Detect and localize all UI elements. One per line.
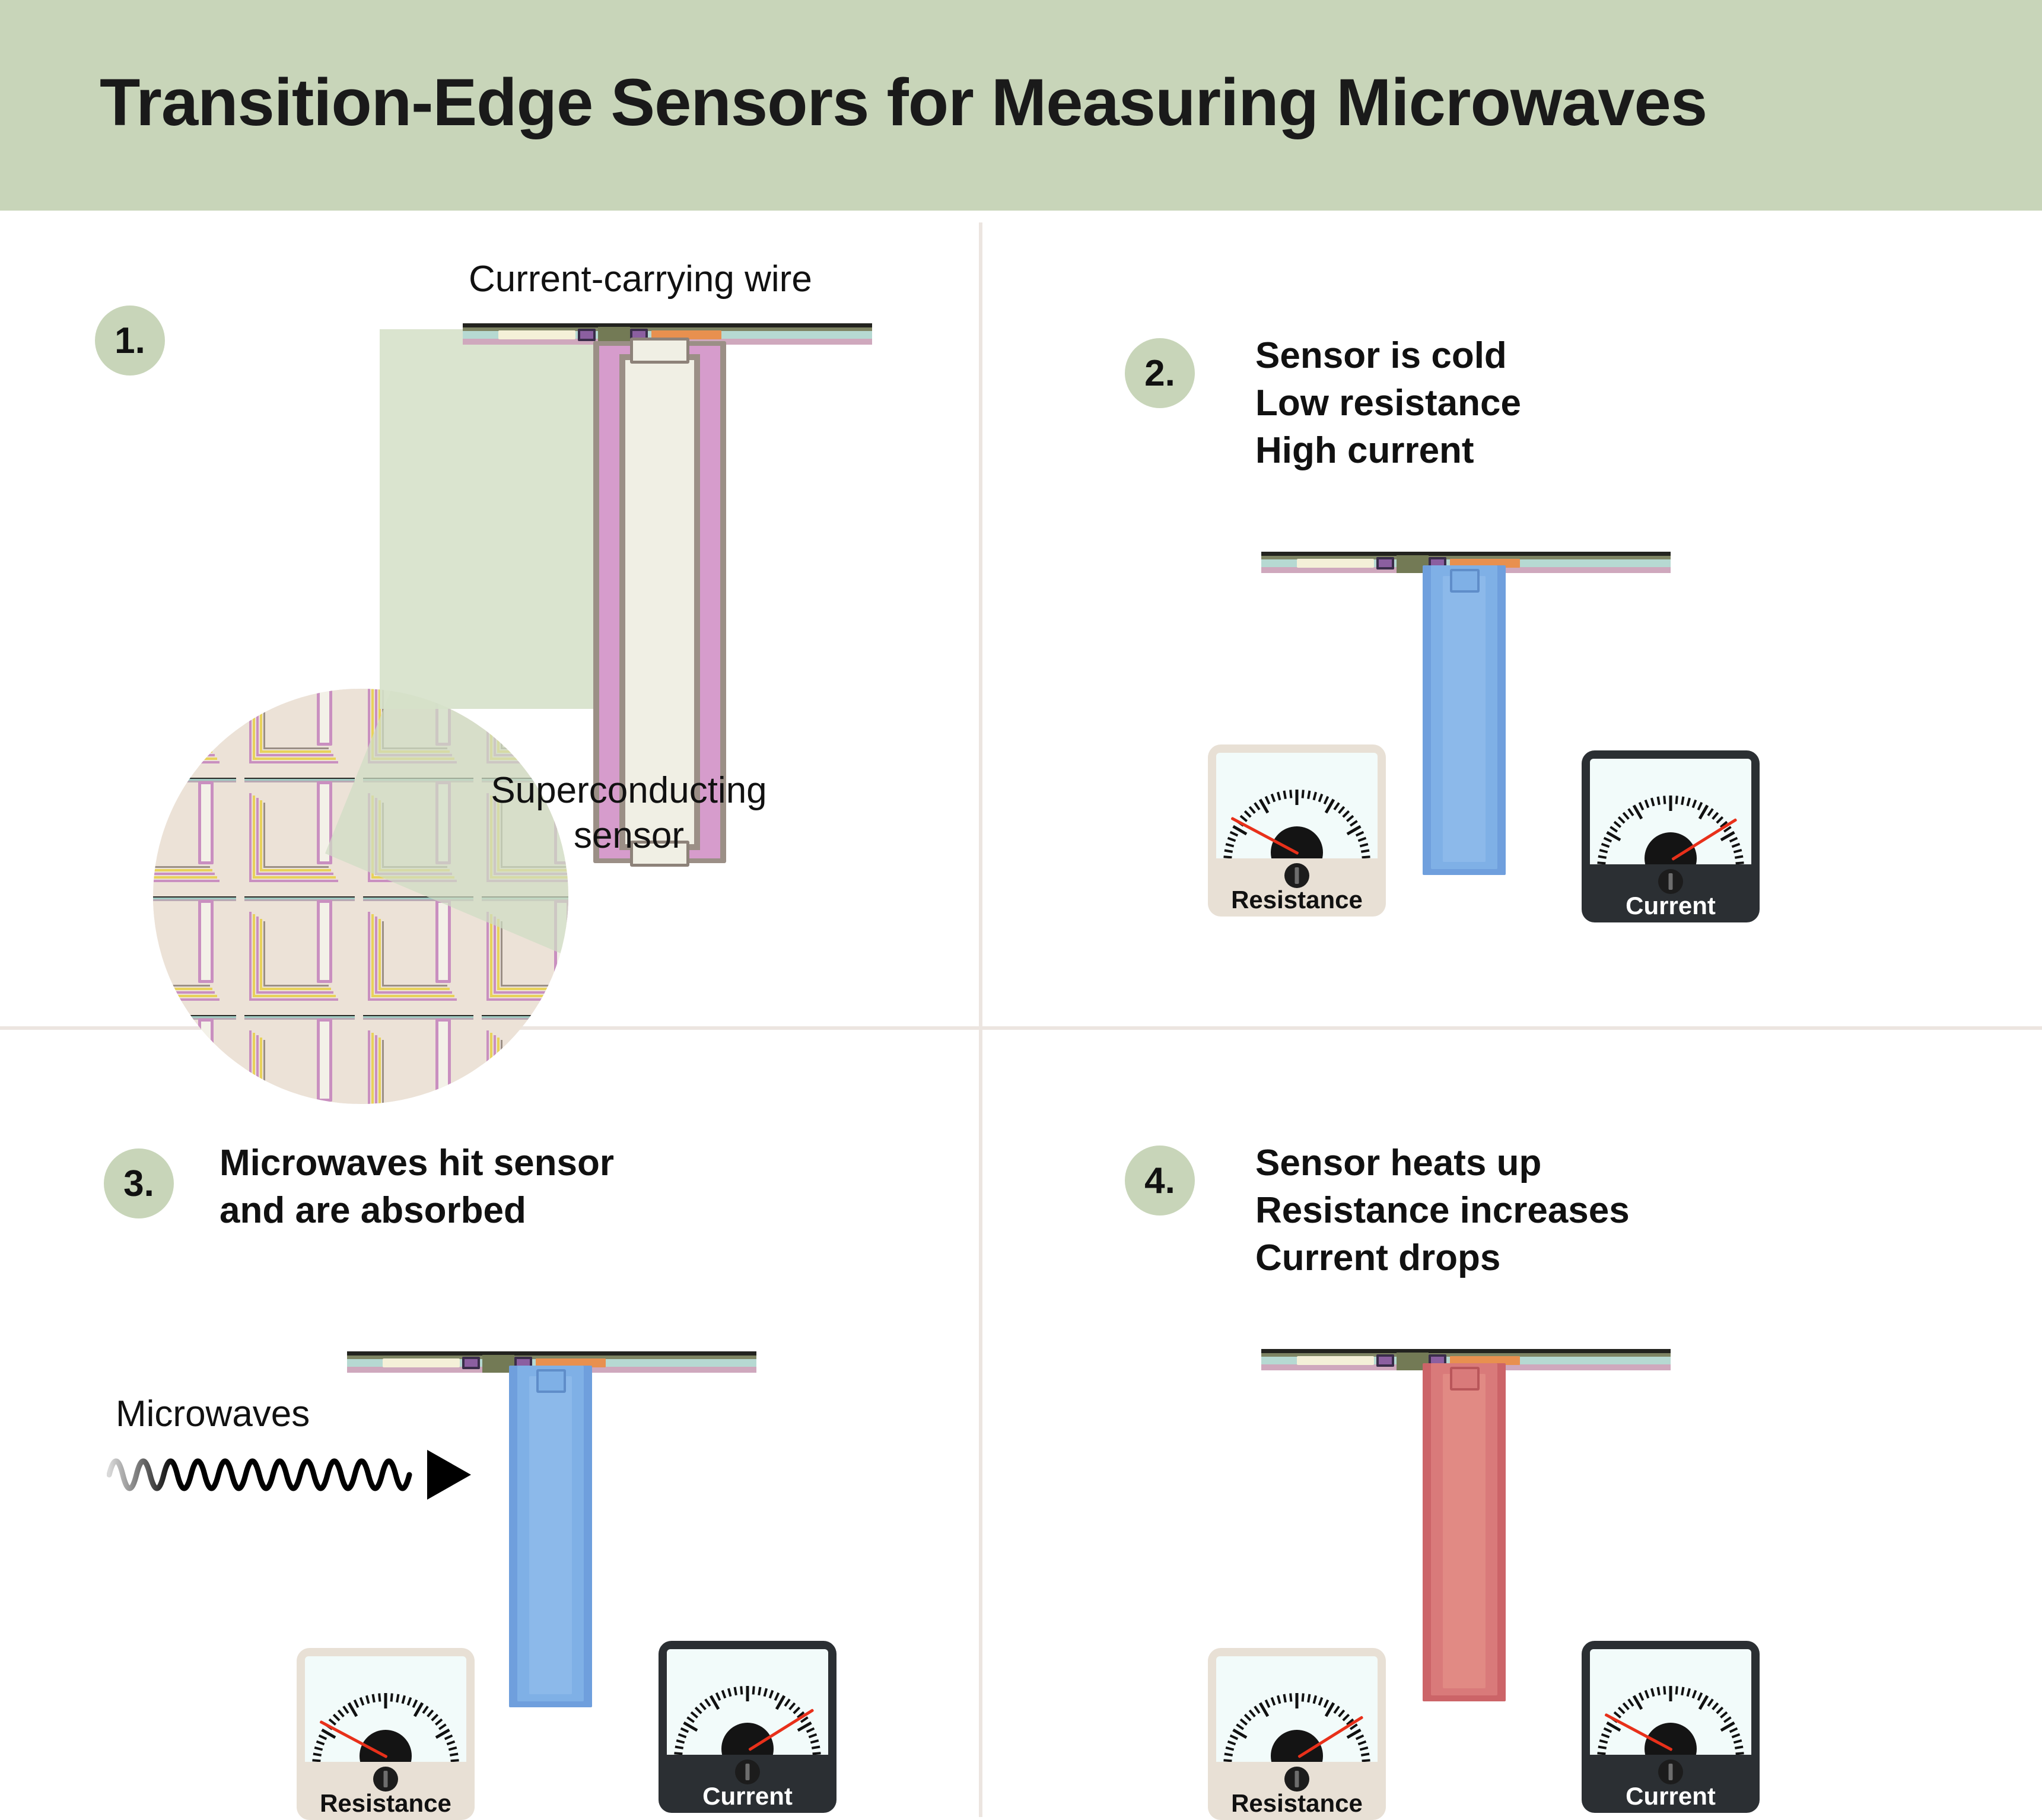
cell-wire: [244, 896, 355, 901]
wire-via-left: [578, 329, 596, 341]
sensor-layer-core: [529, 1376, 572, 1694]
wire-pad-cream: [1297, 1356, 1374, 1365]
panel-step-4: 4. Sensor heats up Resistance increases …: [982, 1030, 2042, 1817]
sensor-cold-3: [509, 1366, 592, 1707]
meter-screw: [1658, 1759, 1683, 1784]
meter-screw: [735, 1759, 760, 1784]
meter-face: [1216, 753, 1378, 858]
wire-via-left: [1376, 557, 1394, 569]
panel-step-1: 1. Current-carrying wire: [0, 222, 979, 1026]
cell-sensor-bar: [198, 689, 214, 746]
wire-via-left: [1376, 1354, 1394, 1367]
meter-resistance-2: Resistance: [1208, 744, 1386, 917]
header-banner: Transition-Edge Sensors for Measuring Mi…: [0, 0, 2042, 211]
microwave-wave-arrow: [107, 1439, 522, 1510]
page-title: Transition-Edge Sensors for Measuring Mi…: [100, 64, 1707, 141]
cell-sensor-bar: [317, 900, 332, 983]
meter-current-2: Current: [1582, 750, 1760, 922]
meter-resistance-3: Resistance: [297, 1648, 475, 1820]
step-badge-3: 3.: [104, 1148, 174, 1218]
step-text-2: Sensor is cold Low resistance High curre…: [1255, 332, 1521, 475]
meter-face: [1590, 759, 1751, 864]
wire-pad-cream: [1297, 559, 1374, 568]
cell-wire: [363, 1015, 473, 1020]
wafer-cell: [153, 689, 236, 767]
meter-label-resistance: Resistance: [297, 1789, 475, 1818]
cell-sensor-bar: [198, 900, 214, 983]
wire-via-left: [462, 1357, 480, 1369]
wire-layer-dark: [463, 323, 872, 327]
wafer-cell: [153, 896, 236, 1004]
wafer-cell: [244, 689, 355, 767]
step-number-3: 3.: [123, 1163, 154, 1205]
meter-label-resistance: Resistance: [1208, 886, 1386, 914]
caption-current-carrying-wire: Current-carrying wire: [469, 258, 812, 300]
panel-step-2: 2. Sensor is cold Low resistance High cu…: [982, 222, 2042, 1026]
meter-screw: [1284, 863, 1309, 888]
meter-current-3: Current: [659, 1641, 836, 1813]
meter-label-current: Current: [1582, 892, 1760, 920]
step-badge-1: 1.: [95, 306, 165, 376]
meter-screw: [1284, 1767, 1309, 1792]
step-number-1: 1.: [114, 320, 145, 362]
meter-face: [1216, 1656, 1378, 1762]
step-badge-4: 4.: [1125, 1146, 1195, 1216]
panel-step-3: 3. Microwaves hit sensor and are absorbe…: [0, 1030, 979, 1817]
step-number-2: 2.: [1144, 352, 1175, 394]
cell-sensor-bar: [198, 781, 214, 864]
sensor-top-tab: [536, 1369, 566, 1393]
meter-label-resistance: Resistance: [1208, 1789, 1386, 1818]
microwaves-label: Microwaves: [116, 1393, 310, 1435]
meter-current-4: Current: [1582, 1641, 1760, 1813]
step-number-4: 4.: [1144, 1160, 1175, 1202]
meter-face: [305, 1656, 466, 1762]
infographic-page: Transition-Edge Sensors for Measuring Mi…: [0, 0, 2042, 1817]
cell-sensor-bar: [435, 900, 451, 983]
step-badge-2: 2.: [1125, 338, 1195, 408]
cell-wire: [153, 896, 236, 901]
cell-wire: [153, 1015, 236, 1020]
meter-resistance-4: Resistance: [1208, 1648, 1386, 1820]
sensor-top-tab: [1450, 569, 1480, 593]
wire-layer-dark: [1261, 552, 1671, 556]
wafer-cell: [153, 778, 236, 886]
sensor-cold-2: [1423, 565, 1506, 875]
wafer-cell: [244, 896, 355, 1004]
sensor-layer-core: [1443, 1374, 1486, 1688]
caption-superconducting-sensor: Superconducting sensor: [463, 768, 795, 858]
step-text-3: Microwaves hit sensor and are absorbed: [220, 1140, 614, 1234]
step-text-4: Sensor heats up Resistance increases Cur…: [1255, 1140, 1630, 1282]
meter-screw: [1658, 869, 1683, 894]
wire-pad-cream: [383, 1358, 460, 1367]
wafer-cell: [363, 896, 473, 1004]
sensor-layer-core: [1443, 576, 1486, 862]
meter-face: [1590, 1649, 1751, 1755]
cell-wire: [244, 1015, 355, 1020]
meter-label-current: Current: [659, 1782, 836, 1811]
wire-pad-cream: [498, 330, 575, 339]
cell-sensor-bar: [317, 689, 332, 746]
wire-layer-dark: [347, 1351, 756, 1356]
wire-layer-dark: [1261, 1349, 1671, 1353]
meter-label-current: Current: [1582, 1782, 1760, 1811]
meter-screw: [373, 1767, 398, 1792]
sensor-top-tab: [630, 338, 689, 364]
meter-face: [667, 1649, 828, 1755]
sensor-top-tab: [1450, 1367, 1480, 1391]
cell-wire: [244, 778, 355, 782]
sensor-hot-4: [1423, 1363, 1506, 1701]
cell-wire: [153, 778, 236, 782]
